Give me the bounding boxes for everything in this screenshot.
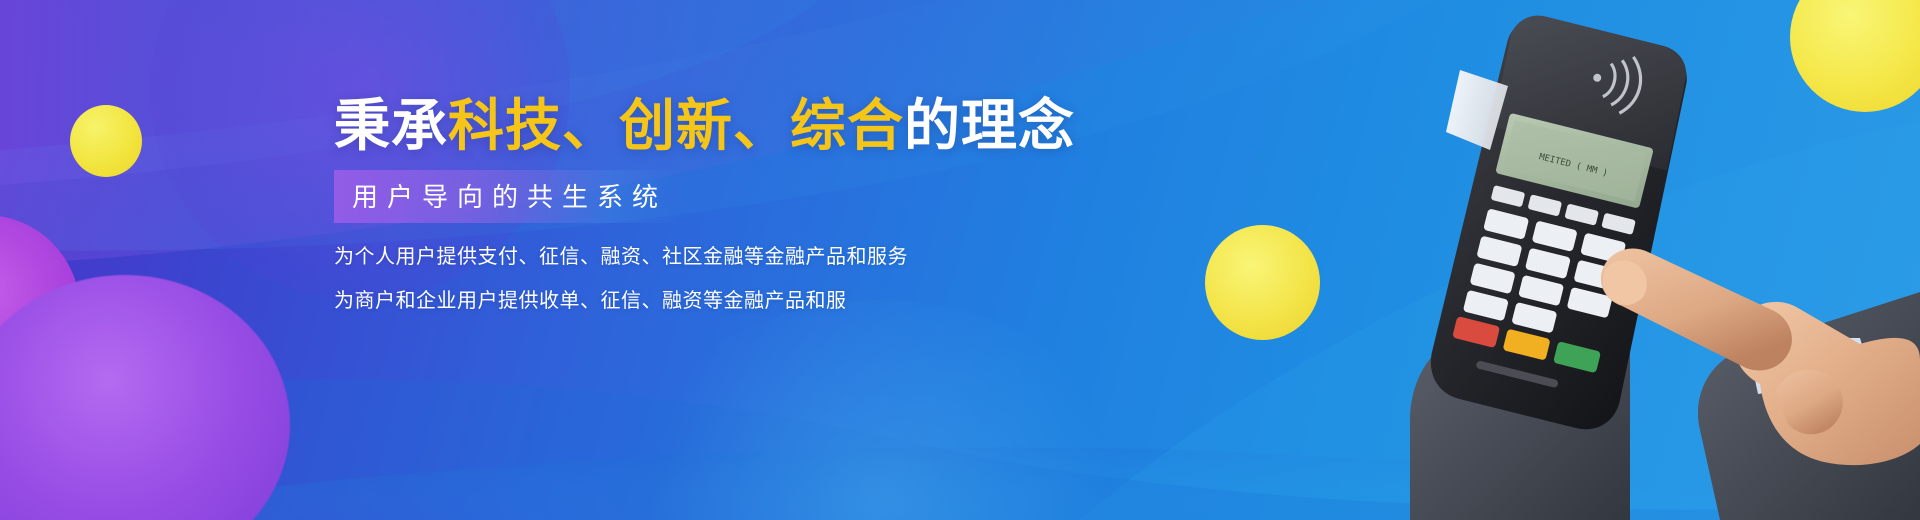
body-line-1: 为个人用户提供支付、征信、融资、社区金融等金融产品和服务 bbox=[334, 247, 1094, 267]
banner-content: 秉承科技、创新、综合的理念 用户导向的共生系统 为个人用户提供支付、征信、融资、… bbox=[334, 96, 1094, 335]
page-title: 秉承科技、创新、综合的理念 bbox=[334, 96, 1094, 156]
circle-yellow-top-left bbox=[70, 105, 142, 177]
subtitle-banner: 用户导向的共生系统 bbox=[334, 170, 683, 223]
pos-terminal-photo: MEITED ( MM ) bbox=[1160, 0, 1920, 520]
headline-segment-1: 秉承 bbox=[334, 94, 448, 157]
body-line-2: 为商户和企业用户提供收单、征信、融资等金融产品和服 bbox=[334, 291, 1094, 311]
subtitle-text: 用户导向的共生系统 bbox=[352, 177, 667, 214]
body-copy: 为个人用户提供支付、征信、融资、社区金融等金融产品和服务 为商户和企业用户提供收… bbox=[334, 247, 1094, 311]
hero-banner: MEITED ( MM ) bbox=[0, 0, 1920, 520]
headline-segment-3: 的理念 bbox=[904, 94, 1075, 157]
headline-segment-2: 科技、创新、综合 bbox=[448, 94, 904, 157]
